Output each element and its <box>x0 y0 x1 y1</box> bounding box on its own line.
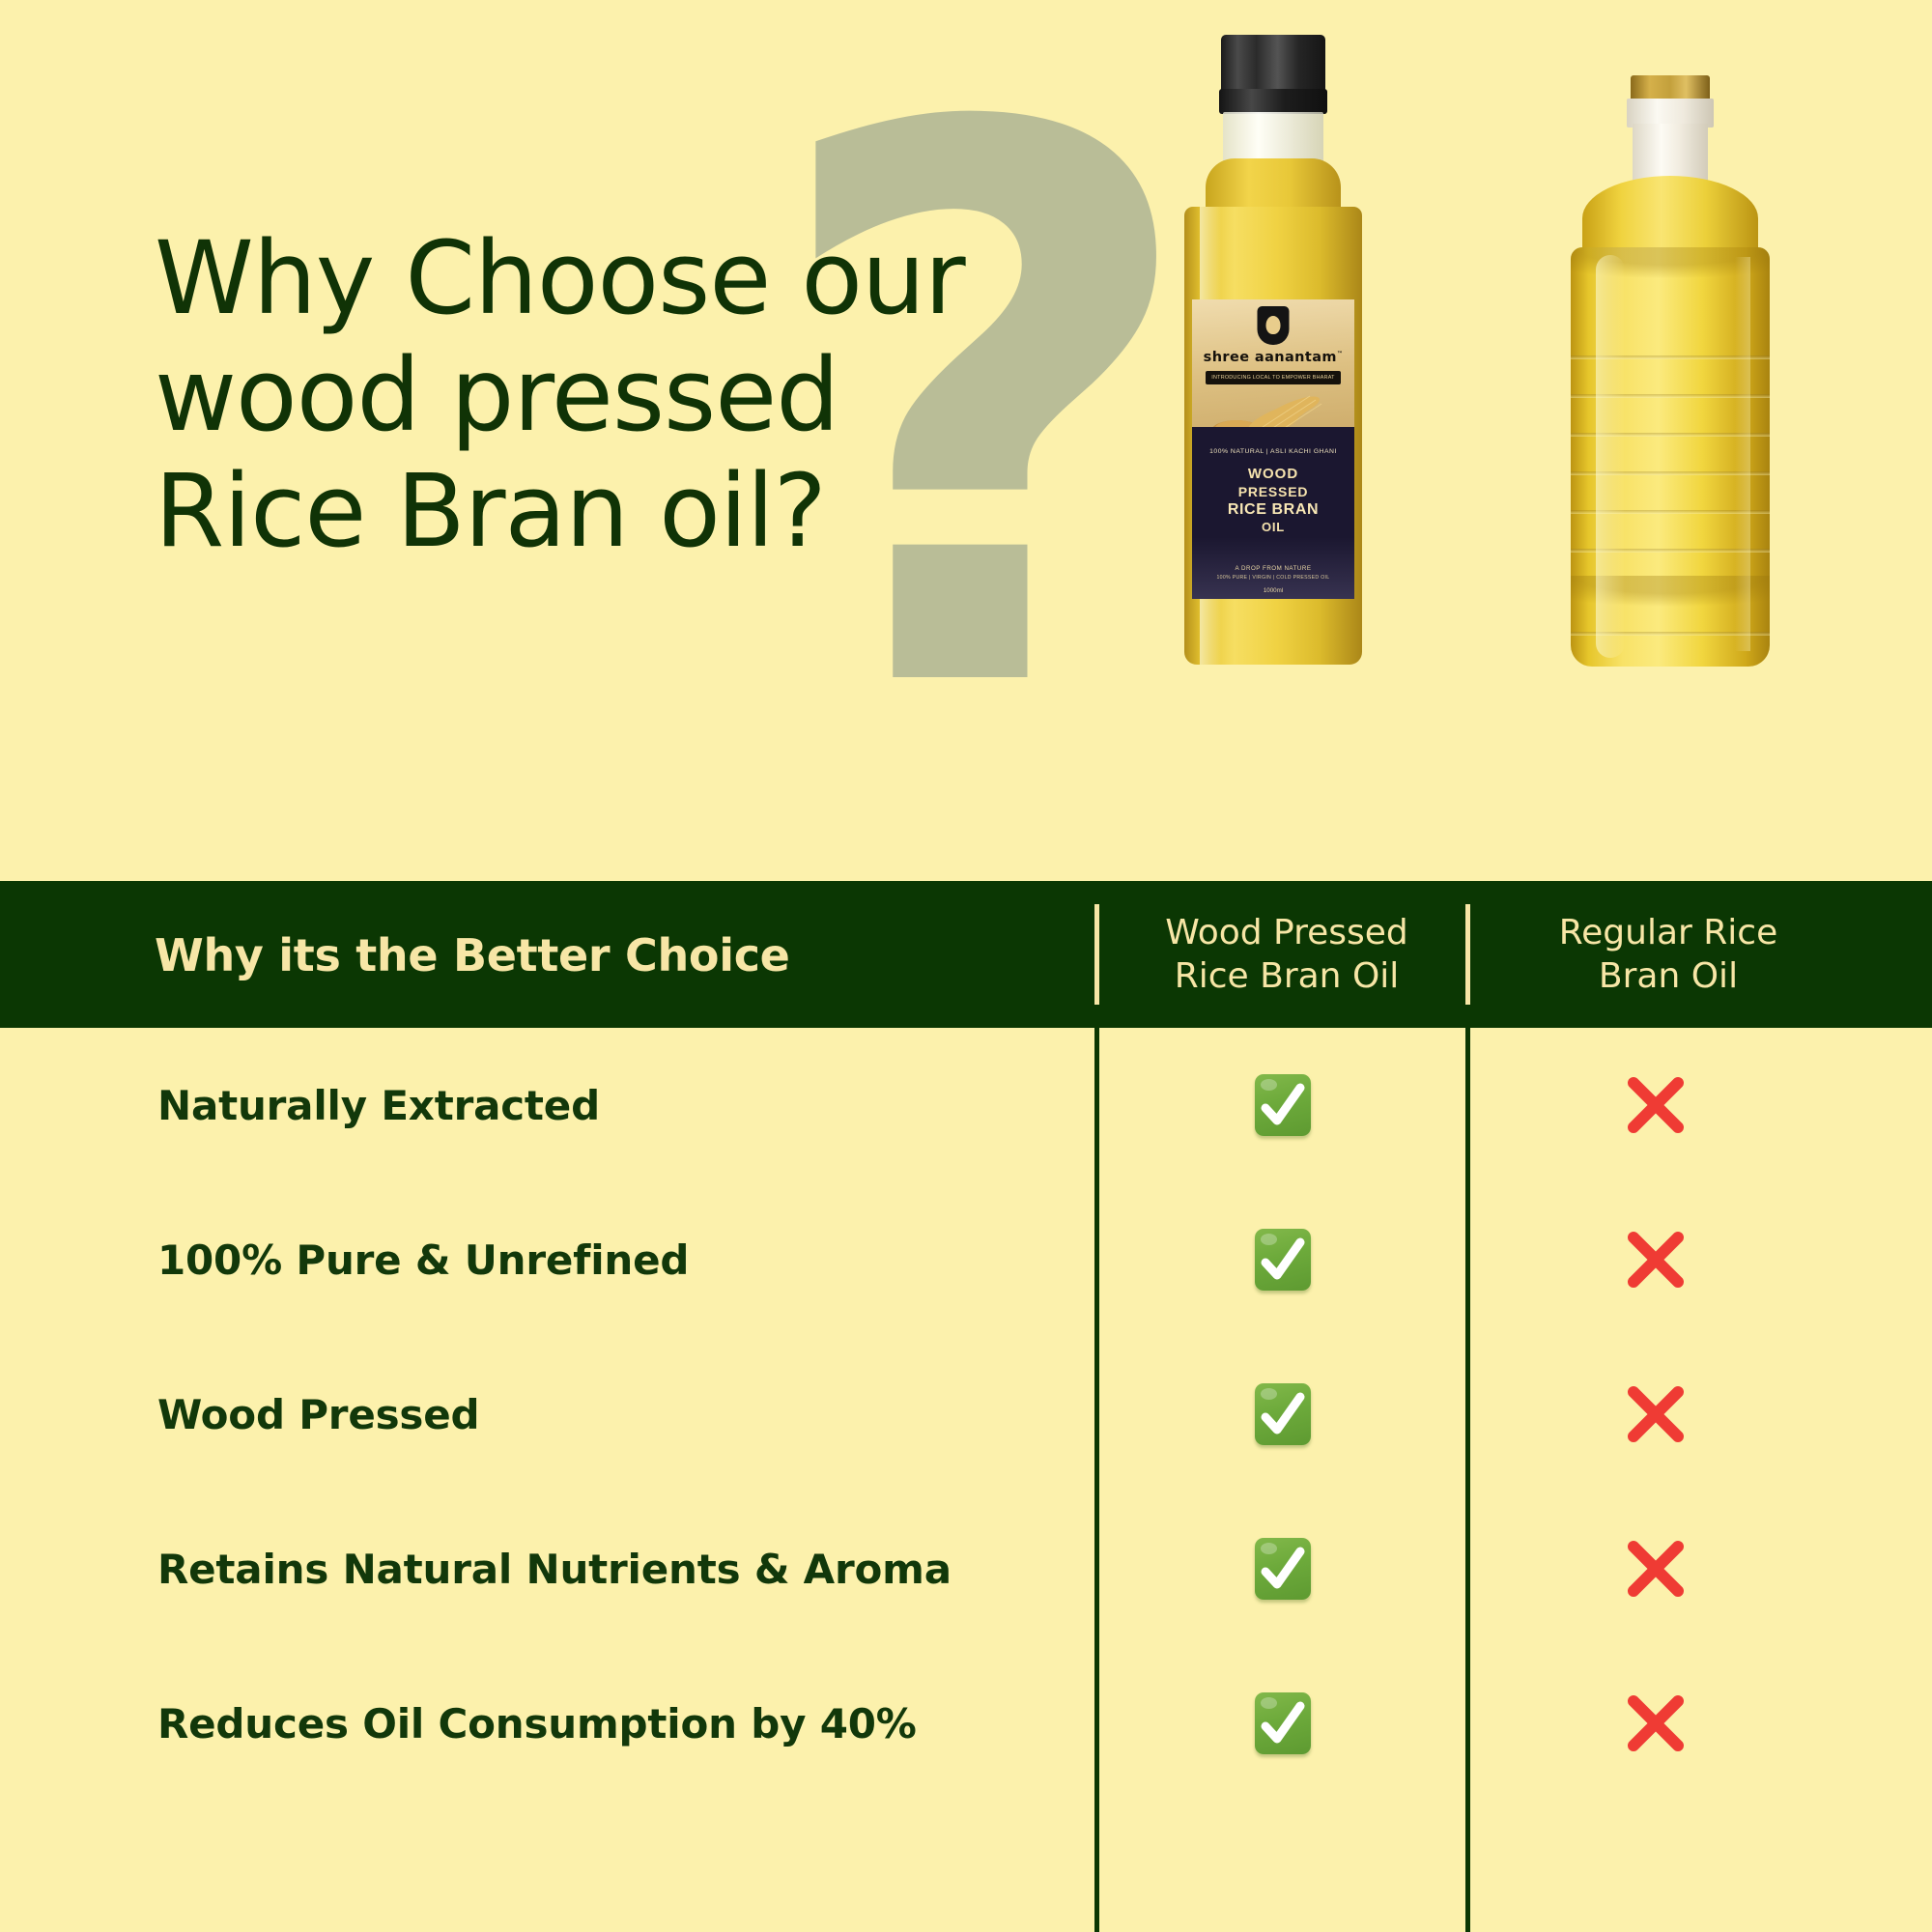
table-row: 100% Pure & Unrefined <box>0 1182 1932 1337</box>
infographic-page: ? Why Choose our wood pressed Rice Bran … <box>0 0 1932 1932</box>
comparison-table-body: Naturally Extracted 100% Pure & Unrefine… <box>0 1028 1932 1801</box>
cross-icon <box>1624 1382 1688 1446</box>
bottle-label-lower: 100% NATURAL | ASLI KACHI GHANI WOOD PRE… <box>1192 427 1354 599</box>
cross-icon <box>1624 1691 1688 1755</box>
wood-pressed-cell <box>1094 1074 1470 1136</box>
bottle-body: shree aanantam™ INTRODUCING LOCAL TO EMP… <box>1184 207 1362 665</box>
product-title-line4: OIL <box>1192 520 1354 534</box>
pet-highlight-right <box>1735 257 1750 651</box>
natural-claim: 100% NATURAL | ASLI KACHI GHANI <box>1192 448 1354 455</box>
label-volume: 1000ml <box>1192 587 1354 594</box>
pet-bottle-cap-icon <box>1631 75 1710 100</box>
cross-icon <box>1624 1228 1688 1292</box>
column-header-line2: Bran Oil <box>1599 954 1738 998</box>
header-divider-1 <box>1094 904 1099 1005</box>
brand-name: shree aanantam™ <box>1192 350 1354 365</box>
wood-pressed-cell <box>1094 1538 1470 1600</box>
regular-cell <box>1465 1228 1845 1292</box>
check-icon <box>1255 1074 1311 1136</box>
bottle-cap-band <box>1219 89 1327 114</box>
regular-oil-bottle-image <box>1544 75 1797 667</box>
bottle-cap-icon <box>1221 35 1325 95</box>
table-row: Wood Pressed <box>0 1337 1932 1492</box>
check-icon <box>1255 1692 1311 1754</box>
regular-cell <box>1465 1537 1845 1601</box>
column-header-line1: Regular Rice <box>1559 911 1777 954</box>
trademark-symbol: ™ <box>1337 351 1343 357</box>
product-title-line1: WOOD <box>1192 466 1354 482</box>
brand-tagline: INTRODUCING LOCAL TO EMPOWER BHARAT <box>1211 375 1334 381</box>
product-title-line2: PRESSED <box>1192 484 1354 499</box>
feature-label: Reduces Oil Consumption by 40% <box>157 1700 917 1747</box>
feature-label: 100% Pure & Unrefined <box>157 1236 689 1284</box>
check-icon <box>1255 1229 1311 1291</box>
cross-icon <box>1624 1537 1688 1601</box>
regular-cell <box>1465 1382 1845 1446</box>
product-title-line3: RICE BRAN <box>1192 501 1354 519</box>
wood-pressed-cell <box>1094 1383 1470 1445</box>
bottle-label-upper: shree aanantam™ INTRODUCING LOCAL TO EMP… <box>1192 299 1354 427</box>
label-footer-claims: 100% PURE | VIRGIN | COLD PRESSED OIL <box>1192 575 1354 581</box>
label-footer-tagline: A DROP FROM NATURE <box>1192 565 1354 572</box>
brand-name-text: shree aanantam <box>1204 350 1337 365</box>
comparison-table-header: Why its the Better Choice Wood Pressed R… <box>0 881 1932 1028</box>
table-row: Naturally Extracted <box>0 1028 1932 1182</box>
feature-label: Naturally Extracted <box>157 1082 600 1129</box>
header-divider-2 <box>1465 904 1470 1005</box>
column-header-regular: Regular Rice Bran Oil <box>1492 904 1845 1005</box>
table-row: Retains Natural Nutrients & Aroma <box>0 1492 1932 1646</box>
brand-tagline-ribbon: INTRODUCING LOCAL TO EMPOWER BHARAT <box>1206 371 1341 384</box>
check-icon <box>1255 1538 1311 1600</box>
cross-icon <box>1624 1073 1688 1137</box>
feature-column-header: Why its the Better Choice <box>155 929 790 981</box>
wood-pressed-bottle-image: shree aanantam™ INTRODUCING LOCAL TO EMP… <box>1177 35 1370 665</box>
pet-highlight-left <box>1596 255 1625 658</box>
regular-cell <box>1465 1073 1845 1137</box>
table-row: Reduces Oil Consumption by 40% <box>0 1646 1932 1801</box>
wood-pressed-cell <box>1094 1692 1470 1754</box>
feature-label: Wood Pressed <box>157 1391 479 1438</box>
feature-label: Retains Natural Nutrients & Aroma <box>157 1546 952 1593</box>
pet-bottle-body <box>1571 247 1770 667</box>
column-header-line1: Wood Pressed <box>1165 911 1408 954</box>
check-icon <box>1255 1383 1311 1445</box>
page-title: Why Choose our wood pressed Rice Bran oi… <box>155 220 1005 570</box>
hero-section: ? Why Choose our wood pressed Rice Bran … <box>0 0 1932 881</box>
brand-crest-icon <box>1258 306 1290 345</box>
wood-pressed-cell <box>1094 1229 1470 1291</box>
column-header-line2: Rice Bran Oil <box>1175 954 1400 998</box>
regular-cell <box>1465 1691 1845 1755</box>
column-header-wood-pressed: Wood Pressed Rice Bran Oil <box>1121 904 1453 1005</box>
bottle-label: shree aanantam™ INTRODUCING LOCAL TO EMP… <box>1192 299 1354 599</box>
